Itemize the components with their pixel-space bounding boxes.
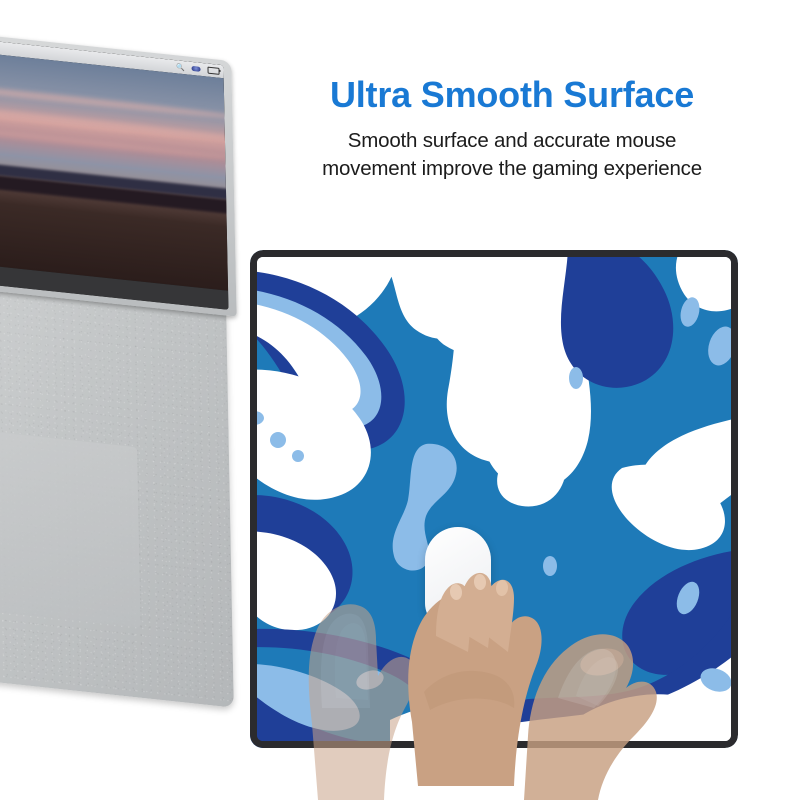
control-center-icon[interactable] <box>191 66 200 72</box>
laptop: ◂ F10 ▸)) F11 ▸))) F12 ⏻ <box>0 44 234 684</box>
computer-mouse[interactable] <box>425 527 491 631</box>
desktop-wallpaper <box>0 45 228 291</box>
battery-icon[interactable] <box>207 67 219 75</box>
subtitle-line-1: Smooth surface and accurate mouse <box>348 129 676 152</box>
page-subtitle: Smooth surface and accurate mouse moveme… <box>262 127 762 183</box>
mouse-pad <box>250 250 738 748</box>
marketing-copy: Ultra Smooth Surface Smooth surface and … <box>262 76 762 183</box>
laptop-screen: Wed 15:51 Ina Simeonova 🔍 <box>0 32 229 310</box>
laptop-base: ◂ F10 ▸)) F11 ▸))) F12 ⏻ <box>0 272 234 707</box>
product-marketing-image: ◂ F10 ▸)) F11 ▸))) F12 ⏻ <box>0 0 800 800</box>
page-title: Ultra Smooth Surface <box>262 76 762 114</box>
subtitle-line-2: movement improve the gaming experience <box>322 157 702 180</box>
trackpad[interactable] <box>0 422 140 628</box>
laptop-lid: Wed 15:51 Ina Simeonova 🔍 <box>0 26 237 316</box>
search-icon[interactable]: 🔍 <box>176 63 185 72</box>
pad-splash-artwork <box>250 250 738 748</box>
